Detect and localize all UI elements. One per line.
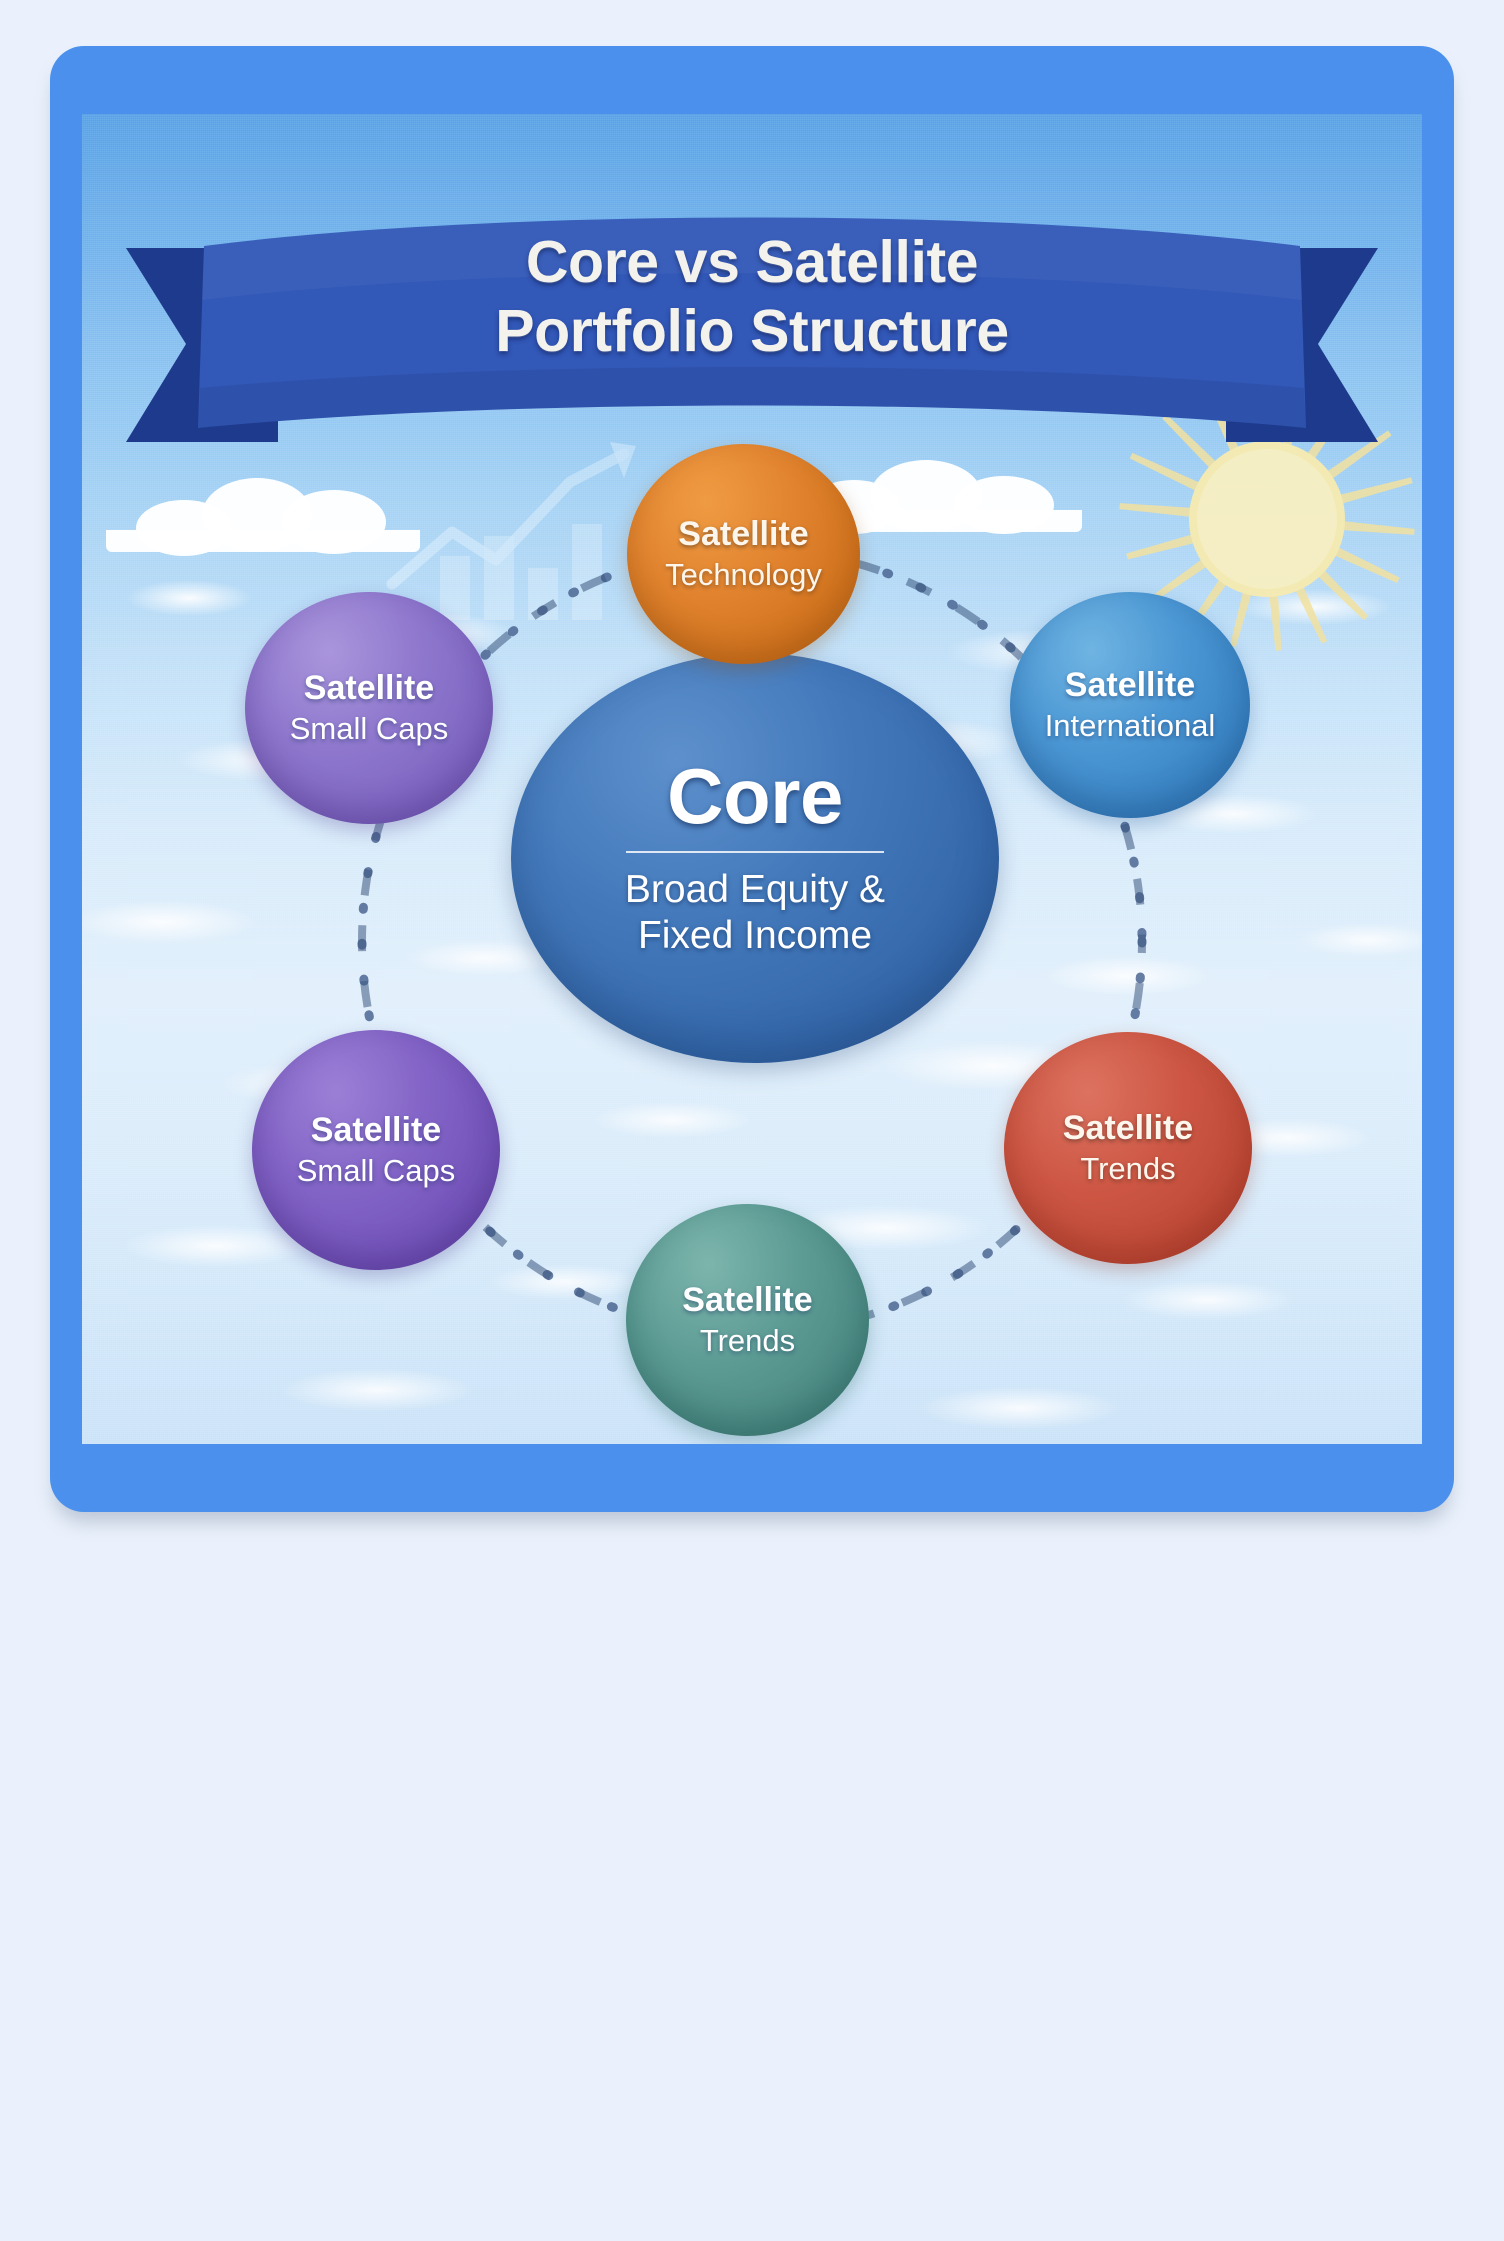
satellite-label: Satellite (1065, 666, 1195, 704)
satellite-sublabel: Technology (665, 558, 822, 593)
satellite-sublabel: Small Caps (290, 712, 449, 747)
satellite-label: Satellite (678, 515, 808, 553)
satellite-label: Satellite (682, 1281, 812, 1319)
core-node[interactable]: Core Broad Equity & Fixed Income (511, 653, 999, 1063)
core-satellite-diagram: Core Broad Equity & Fixed Income Satelli… (82, 444, 1422, 1444)
title-banner: Core vs Satellite Portfolio Structure (82, 192, 1422, 460)
satellite-node-trends-right[interactable]: Satellite Trends (1004, 1032, 1252, 1264)
satellite-label: Satellite (311, 1111, 441, 1149)
title-line-2: Portfolio Structure (82, 297, 1422, 366)
satellite-node-trends-bottom[interactable]: Satellite Trends (626, 1204, 869, 1436)
satellite-sublabel: Small Caps (297, 1154, 456, 1189)
satellite-sublabel: Trends (700, 1324, 795, 1359)
satellite-node-small-caps-lower-left[interactable]: Satellite Small Caps (252, 1030, 500, 1270)
satellite-node-international[interactable]: Satellite International (1010, 592, 1250, 818)
satellite-node-small-caps-upper-left[interactable]: Satellite Small Caps (245, 592, 493, 824)
title-line-1: Core vs Satellite (526, 229, 978, 295)
core-sublabel-line-2: Fixed Income (638, 914, 872, 957)
page-title: Core vs Satellite Portfolio Structure (82, 228, 1422, 366)
artwork-panel: Core vs Satellite Portfolio Structure Co… (82, 114, 1422, 1444)
core-divider (626, 851, 884, 853)
satellite-label: Satellite (1063, 1109, 1193, 1147)
satellite-sublabel: International (1045, 709, 1216, 744)
infographic-card: Core vs Satellite Portfolio Structure Co… (50, 46, 1454, 1512)
satellite-sublabel: Trends (1080, 1152, 1175, 1187)
core-sublabel-line-1: Broad Equity & (625, 868, 885, 911)
satellite-label: Satellite (304, 669, 434, 707)
core-label: Core (667, 757, 843, 835)
satellite-node-technology[interactable]: Satellite Technology (627, 444, 860, 664)
